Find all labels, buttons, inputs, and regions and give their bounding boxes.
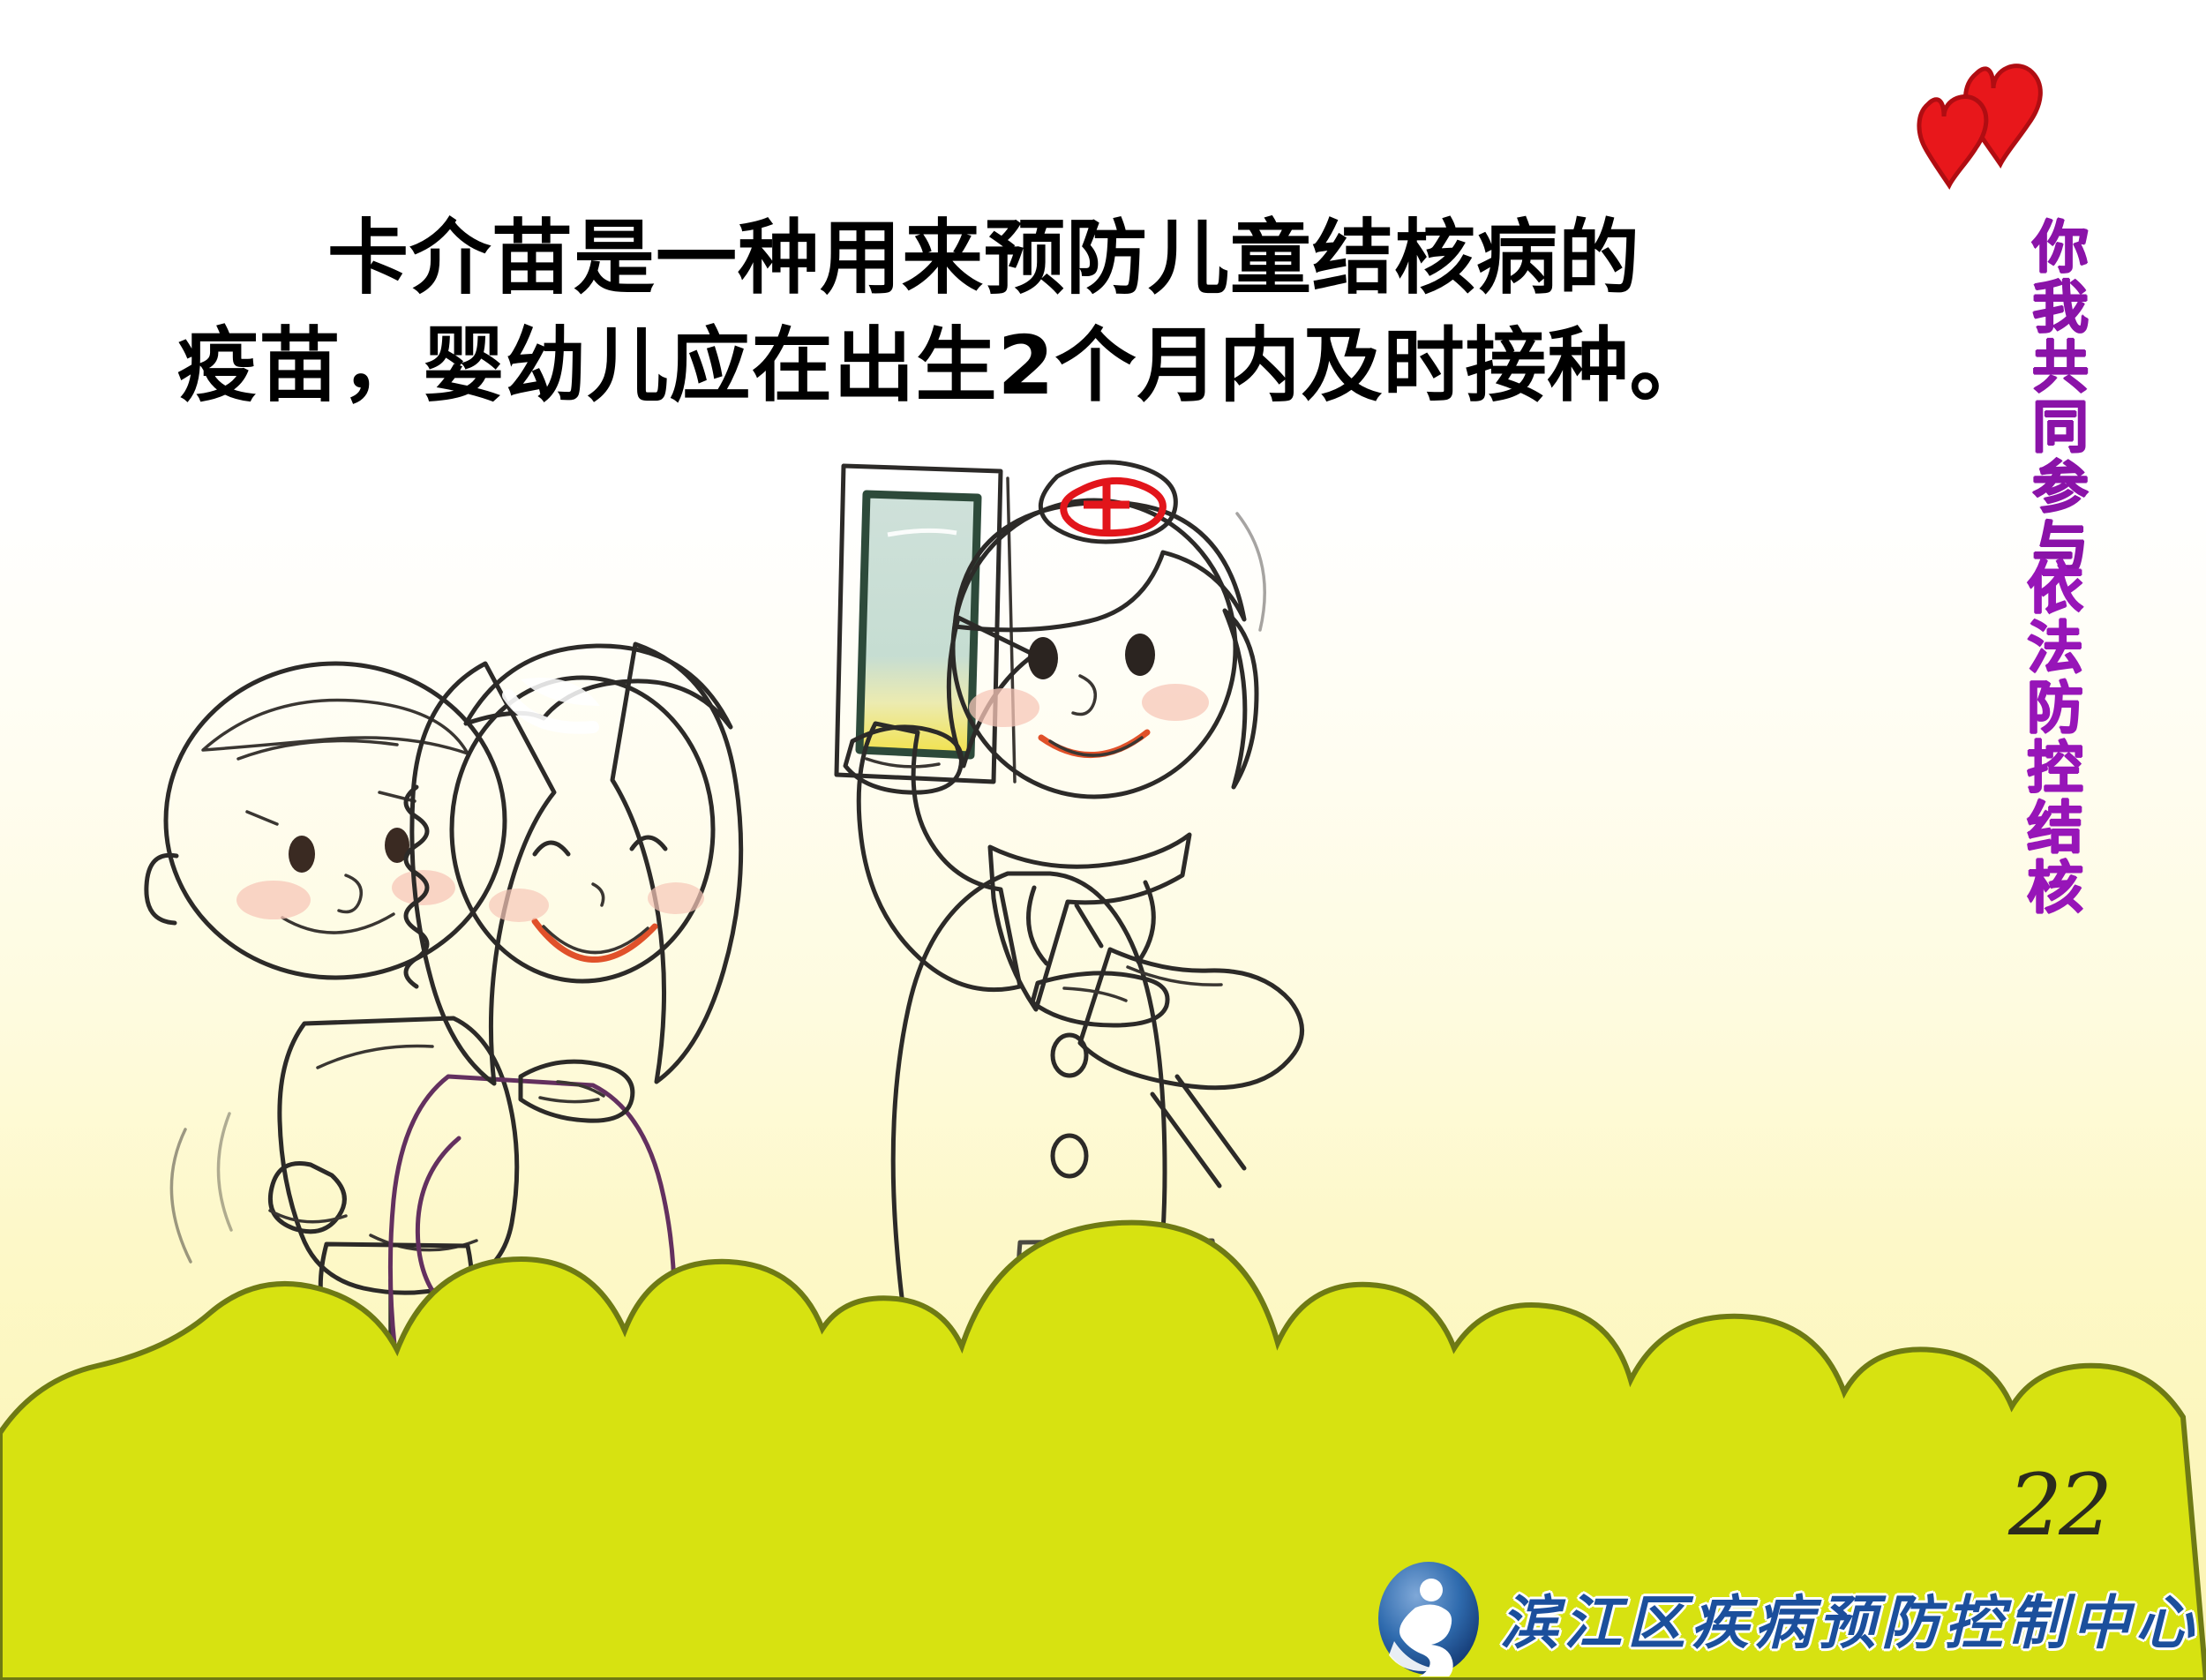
mother-figure [390,644,740,1456]
cdc-ib-monogram-icon [1377,1560,1481,1676]
slide-canvas: .ln { fill:none; stroke:#2c2a28; stroke-… [0,0,2206,1680]
headline-line-1: 卡介苗是一种用来预防儿童结核病的 [132,205,1756,312]
headline-text: 卡介苗是一种用来预防儿童结核病的 疫苗，婴幼儿应在出生2个月内及时接种。 [132,205,1756,421]
page-number: 22 [2008,1456,2109,1555]
slogan-column-b: 依法防控结核 [2008,558,2081,918]
illustration-artwork: .ln { fill:none; stroke:#2c2a28; stroke-… [106,459,1606,1456]
slogan-column-a: 你我共同参与 [2014,217,2086,577]
footer-logo: 滨江区疾病预防控制中心 [1377,1560,2199,1676]
org-name: 滨江区疾病预防控制中心 [1500,1576,2199,1661]
headline-line-2: 疫苗，婴幼儿应在出生2个月内及时接种。 [132,312,1756,420]
two-hearts-icon [1909,53,2064,201]
